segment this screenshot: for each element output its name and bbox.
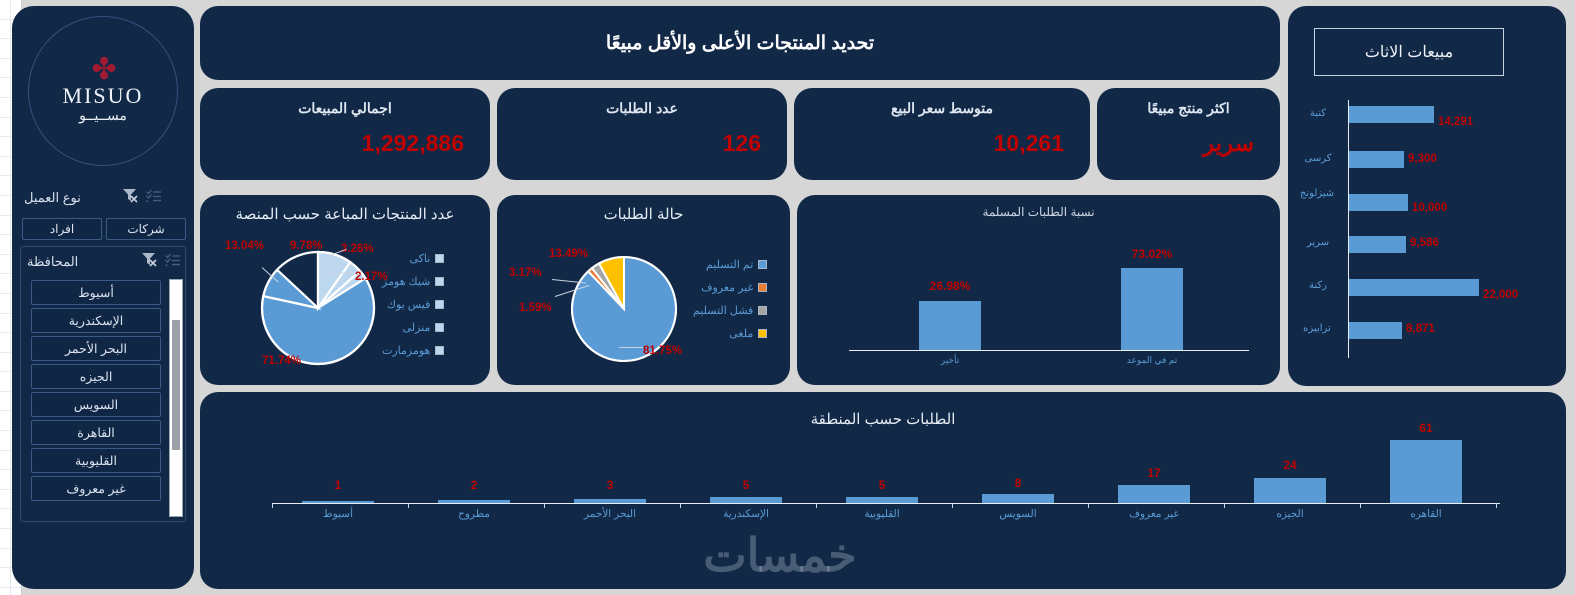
- slicer-title-customer-type: نوع العميل: [24, 190, 81, 206]
- bar-on-time: [1121, 268, 1183, 350]
- hbar-category: كنبة: [1292, 108, 1344, 119]
- kpi-value: 1,292,886: [362, 130, 464, 157]
- kpi-value: سرير: [1203, 130, 1254, 157]
- kpi-card-total-sales: اجمالي المبيعات 1,292,886: [200, 88, 490, 180]
- legend-swatch: [435, 323, 444, 332]
- hbar-category: شيزلونج: [1290, 188, 1344, 199]
- chart-title: عدد المنتجات المباعة حسب المنصة: [200, 205, 490, 223]
- region-bar: [982, 494, 1054, 503]
- chart-title: الطلبات حسب المنطقة: [200, 410, 1566, 428]
- platform-pie-legend: ناكى شيك هومز فيس بوك منزلى هومزمارت: [382, 247, 444, 362]
- multi-select-icon[interactable]: [146, 189, 182, 207]
- pie-label: 1.59%: [519, 302, 552, 314]
- x-axis: [272, 503, 1500, 504]
- kpi-value: 10,261: [994, 130, 1064, 157]
- legend-label: ناكى: [410, 252, 431, 265]
- legend-label: هومزمارت: [382, 344, 430, 357]
- clear-filter-icon[interactable]: [122, 188, 139, 208]
- region-value: 3: [570, 478, 650, 492]
- region-value: 5: [842, 478, 922, 492]
- slicer-option-individuals[interactable]: افراد: [22, 218, 102, 240]
- slicer-item-governorate[interactable]: غير معروف: [31, 476, 161, 501]
- furniture-title-box: مبيعات الاثاث: [1314, 28, 1504, 76]
- pie-label: 9.78%: [290, 240, 323, 252]
- legend-swatch: [758, 306, 767, 315]
- slicer-title-governorate: المحافظة: [27, 254, 78, 270]
- slicer-item-governorate[interactable]: السويس: [31, 392, 161, 417]
- region-category: القاهره: [1382, 508, 1470, 520]
- hbar-chair: [1349, 151, 1404, 168]
- hbar-category: كرسى: [1292, 153, 1344, 164]
- platform-pie-graphic: [248, 243, 388, 373]
- region-bar: [846, 497, 918, 503]
- hbar-chaise: [1349, 194, 1408, 211]
- legend-label: فيس بوك: [387, 298, 430, 311]
- legend-label: ملغى: [729, 327, 753, 340]
- pie-label: 13.04%: [225, 240, 264, 252]
- region-category: الإسكندرية: [698, 508, 794, 520]
- slicer-item-governorate[interactable]: الجيزه: [31, 364, 161, 389]
- clear-filter-icon[interactable]: [141, 252, 158, 272]
- region-bar: [1118, 485, 1190, 503]
- hbar-value: 22,000: [1483, 289, 1518, 301]
- bar-category: تأخير: [909, 355, 991, 366]
- slicer-item-governorate[interactable]: الإسكندرية: [31, 308, 161, 333]
- hbar-value: 10,000: [1412, 202, 1447, 214]
- watermark: خمسات: [640, 528, 920, 582]
- kpi-card-order-count: عدد الطلبات 126: [497, 88, 787, 180]
- pie-label: 3.17%: [509, 267, 542, 279]
- legend-swatch: [435, 277, 444, 286]
- legend-swatch: [435, 346, 444, 355]
- logo-text-ar: مســيــو: [79, 107, 127, 124]
- hbar-value: 8,871: [1406, 323, 1435, 335]
- slicer-item-governorate[interactable]: البحر الأحمر: [31, 336, 161, 361]
- multi-select-icon[interactable]: [165, 253, 181, 271]
- hbar-sofa: [1349, 106, 1434, 123]
- bar-value: 26.98%: [909, 279, 991, 293]
- y-axis: [1348, 100, 1349, 358]
- region-value: 8: [978, 476, 1058, 490]
- kpi-card-top-product: اكثر منتج مبيعًا سرير: [1097, 88, 1280, 180]
- region-value: 61: [1386, 421, 1466, 435]
- chart-title: حالة الطلبات: [497, 205, 790, 223]
- order-status-pie-legend: تم التسليم غير معروف فشل التسليم ملغى: [693, 253, 767, 345]
- chart-card-delivery-rate: نسبة الطلبات المسلمة 26.98% تأخير 73.02%…: [797, 195, 1280, 385]
- region-value: 5: [706, 478, 786, 492]
- region-value: 1: [298, 478, 378, 492]
- kpi-label: اكثر منتج مبيعًا: [1097, 100, 1280, 117]
- slicer-scrollbar[interactable]: [169, 279, 183, 517]
- hbar-value: 14,291: [1438, 116, 1473, 128]
- slicer-header-governorate: المحافظة: [21, 249, 187, 275]
- pie-leader-line: [619, 347, 643, 348]
- region-category: السويس: [974, 508, 1062, 520]
- hbar-category: ركنة: [1292, 280, 1344, 291]
- region-category: غير معروف: [1106, 508, 1202, 520]
- kpi-label: عدد الطلبات: [497, 100, 787, 117]
- slicer-header-customer-type: نوع العميل: [18, 186, 188, 210]
- slicer-item-governorate[interactable]: القاهرة: [31, 420, 161, 445]
- hbar-corner-sofa: [1349, 279, 1479, 296]
- chart-card-order-status-pie: حالة الطلبات 81.75% 1.59% 3.17% 13.49% ت…: [497, 195, 790, 385]
- region-category: القليوبية: [834, 508, 930, 520]
- kpi-value: 126: [723, 130, 761, 157]
- region-bar: [302, 501, 374, 503]
- region-value: 24: [1250, 458, 1330, 472]
- region-bar: [574, 499, 646, 503]
- region-value: 2: [434, 478, 514, 492]
- sidebar-panel: ✤ MISUO مســيــو: [12, 6, 194, 589]
- logo-ornament-icon: ✤: [91, 59, 114, 81]
- bar-value: 73.02%: [1111, 247, 1193, 261]
- x-axis: [849, 350, 1249, 351]
- slicer-item-governorate[interactable]: القليوبية: [31, 448, 161, 473]
- region-bar: [710, 497, 782, 503]
- legend-label: غير معروف: [701, 281, 753, 294]
- hbar-value: 9,300: [1408, 153, 1437, 165]
- region-bar: [438, 500, 510, 503]
- pie-label: 81.75%: [643, 345, 682, 357]
- region-category: أسيوط: [298, 508, 378, 520]
- dashboard-root: ✤ MISUO مســيــو: [0, 0, 1575, 595]
- bar-delay: [919, 301, 981, 350]
- region-category: الجيزه: [1246, 508, 1334, 520]
- legend-swatch: [758, 260, 767, 269]
- dashboard-header: تحديد المنتجات الأعلى والأقل مبيعًا: [200, 6, 1280, 80]
- chart-card-platform-pie: عدد المنتجات المباعة حسب المنصة 71.74% 1…: [200, 195, 490, 385]
- chart-card-furniture-sales: مبيعات الاثاث كنبة 14,291 كرسى 9,300 شيز…: [1288, 6, 1566, 386]
- legend-swatch: [435, 254, 444, 263]
- hbar-value: 9,586: [1410, 237, 1439, 249]
- region-category: البحر الأحمر: [562, 508, 658, 520]
- chart-title: نسبة الطلبات المسلمة: [797, 205, 1280, 219]
- region-bar: [1254, 478, 1326, 503]
- legend-swatch: [758, 283, 767, 292]
- legend-swatch: [758, 329, 767, 338]
- hbar-table: [1349, 322, 1402, 339]
- slicer-governorate: المحافظة أسيوط الإسكندرية البحر الأحمر ا…: [20, 246, 186, 522]
- slicer-option-companies[interactable]: شركات: [106, 218, 186, 240]
- hbar-category: سرير: [1292, 237, 1344, 248]
- kpi-label: اجمالي المبيعات: [200, 100, 490, 117]
- region-bar: [1390, 440, 1462, 503]
- hbar-category: ترابيزه: [1290, 323, 1344, 334]
- legend-label: شيك هومز: [382, 275, 430, 288]
- logo-text-en: MISUO: [63, 83, 144, 109]
- kpi-label: متوسط سعر البيع: [794, 100, 1090, 117]
- legend-label: منزلى: [403, 321, 431, 334]
- legend-label: فشل التسليم: [693, 304, 753, 317]
- legend-label: تم التسليم: [706, 258, 753, 271]
- page-title: تحديد المنتجات الأعلى والأقل مبيعًا: [200, 6, 1280, 80]
- slicer-item-governorate[interactable]: أسيوط: [31, 280, 161, 305]
- bar-category: تم في الموعد: [1103, 355, 1201, 366]
- chart-title: مبيعات الاثاث: [1365, 42, 1453, 62]
- brand-logo: ✤ MISUO مســيــو: [28, 16, 178, 166]
- region-value: 17: [1114, 466, 1194, 480]
- legend-swatch: [435, 300, 444, 309]
- pie-label: 71.74%: [262, 355, 301, 367]
- kpi-card-avg-price: متوسط سعر البيع 10,261: [794, 88, 1090, 180]
- pie-label: 13.49%: [549, 248, 588, 260]
- slicer-scroll-thumb[interactable]: [172, 320, 180, 450]
- hbar-bed: [1349, 236, 1406, 253]
- region-category: مطروح: [434, 508, 514, 520]
